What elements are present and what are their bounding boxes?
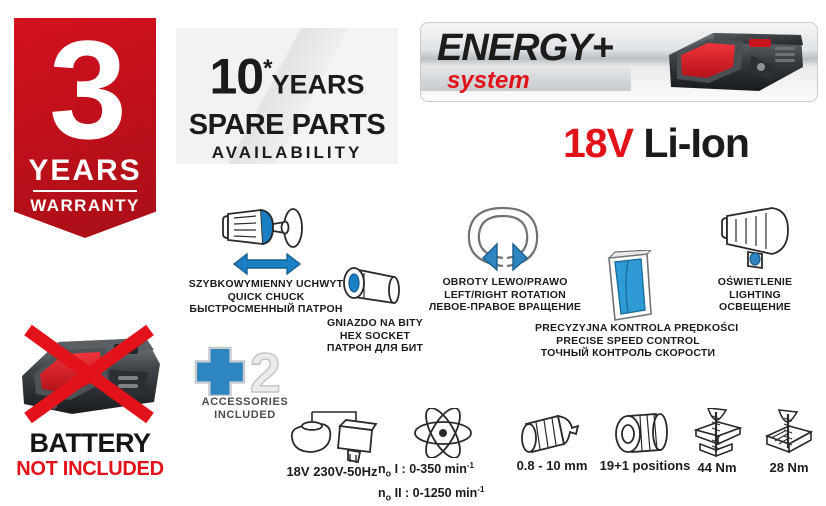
spec-torque-steel: 44 Nm (682, 408, 752, 476)
spare-parts-years-label: YEARS (271, 70, 364, 100)
screw-wood-icon (759, 408, 819, 460)
warranty-label: WARRANTY (14, 196, 156, 216)
battery-image-wrapper (14, 318, 166, 428)
feature-hex-socket: GNIAZDO NA BITY HEX SOCKET ПАТРОН ДЛЯ БИ… (305, 255, 445, 355)
feature-caption-en: LIGHTING (690, 289, 820, 302)
spec-chuck-range: 0.8 - 10 mm (500, 408, 604, 474)
spec-no-load-speed: no I : 0-350 min-1 no II : 0-1250 min-1 (378, 408, 508, 505)
screw-steel-icon (686, 408, 748, 460)
voltage-value: 18V (563, 120, 633, 166)
feature-caption-ru: ПАТРОН ДЛЯ БИТ (305, 342, 445, 355)
battery-not-included-notice: BATTERY NOT INCLUDED (10, 318, 170, 498)
feature-caption-pl: GNIAZDO NA BITY (305, 317, 445, 330)
feature-caption-en: HEX SOCKET (305, 330, 445, 343)
hex-socket-icon (332, 255, 418, 317)
battery-notice-line2: NOT INCLUDED (10, 458, 170, 481)
spec-speed-line1: no I : 0-350 min-1 (378, 458, 508, 482)
warranty-divider (33, 190, 137, 192)
charger-plug-icon (282, 408, 382, 464)
spec-speed-line2: no II : 0-1250 min-1 (378, 482, 508, 506)
energy-plus-title: ENERGY+ (437, 27, 613, 70)
feature-caption-en: PRECISE SPEED CONTROL (535, 335, 721, 348)
plus-two-icon: 2 (178, 344, 312, 396)
feature-caption-ru: ОСВЕЩЕНИЕ (690, 301, 820, 314)
red-cross-out-icon (14, 318, 166, 428)
feature-caption-pl: OŚWIETLENIE (690, 276, 820, 289)
warranty-badge: 3 YEARS WARRANTY (14, 18, 156, 238)
arrow-left-icon (483, 244, 497, 270)
drill-led-light-icon (700, 198, 810, 276)
feature-lighting: OŚWIETLENIE LIGHTING ОСВЕЩЕНИЕ (690, 198, 820, 314)
spec-charger: 18V 230V-50Hz (272, 408, 392, 480)
spare-parts-line2: SPARE PARTS (176, 110, 398, 141)
warranty-years-label: YEARS (14, 156, 156, 186)
product-feature-infographic: 3 YEARS WARRANTY 10*YEARS SPARE PARTS AV… (0, 0, 826, 506)
battery-notice-line1: BATTERY (10, 428, 170, 458)
feature-caption-pl: PRECYZYJNA KONTROLA PRĘDKOŚCI (535, 322, 721, 335)
energy-system-subtitle: system (447, 67, 530, 95)
spare-parts-line3: AVAILABILITY (176, 141, 398, 165)
spare-parts-availability-panel: 10*YEARS SPARE PARTS AVAILABILITY (176, 28, 398, 164)
led-bulb-icon (750, 253, 760, 265)
voltage-label: 18V Li-Ion (563, 120, 749, 167)
spare-parts-headline: 10*YEARS (176, 28, 398, 110)
spec-torque-wood-value: 28 Nm (756, 460, 822, 476)
warranty-years-number: 3 (14, 18, 156, 156)
accessory-count: 2 (250, 344, 281, 396)
trigger-switch-icon (595, 250, 661, 322)
plus-sign-icon (196, 348, 244, 396)
feature-caption-ru: ТОЧНЫЙ КОНТРОЛЬ СКОРОСТИ (535, 347, 721, 360)
double-arrow-icon (234, 254, 300, 274)
spare-parts-number: 10 (210, 49, 264, 105)
chuck-icon (514, 408, 590, 458)
spec-torque-steel-value: 44 Nm (682, 460, 752, 476)
spec-chuck-value: 0.8 - 10 mm (500, 458, 604, 474)
spec-charger-value: 18V 230V-50Hz (272, 464, 392, 480)
atom-speed-icon (412, 408, 474, 458)
energy-plus-system-banner: ENERGY+ system (420, 22, 818, 102)
battery-pack-icon (651, 29, 811, 95)
spec-torque-wood: 28 Nm (756, 408, 822, 476)
battery-chemistry: Li-Ion (643, 120, 749, 166)
clutch-ring-icon (610, 408, 680, 458)
